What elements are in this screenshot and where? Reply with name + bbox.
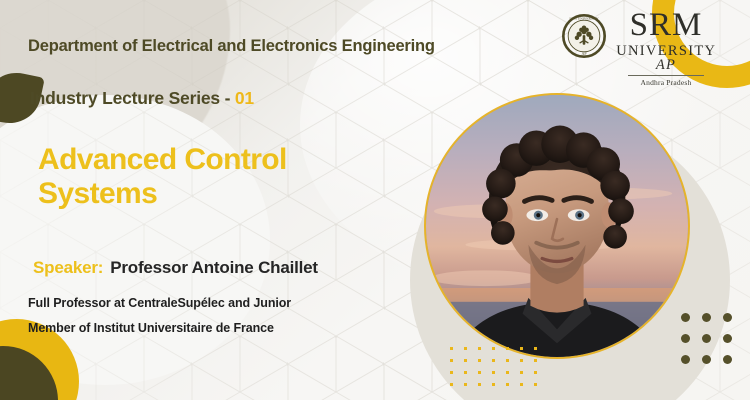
speaker-line: Speaker:Professor Antoine Chaillet (33, 258, 318, 278)
department-title: Department of Electrical and Electronics… (28, 37, 435, 56)
svg-text:SRM UNIVERSITY: SRM UNIVERSITY (569, 17, 599, 21)
logo-srm-text: SRM (610, 8, 722, 43)
affiliation-line-1: Full Professor at CentraleSupélec and Ju… (28, 291, 291, 316)
affiliation-line-2: Member of Institut Universitaire de Fran… (28, 316, 291, 341)
logo-university-text: UNIVERSITY AP (610, 44, 722, 73)
speaker-name: Professor Antoine Chaillet (110, 258, 318, 277)
speaker-photo (424, 93, 690, 359)
title-line-2: Systems (38, 177, 287, 211)
page-title: Advanced Control Systems (38, 143, 287, 211)
gold-dot-grid (450, 347, 537, 386)
logo-state-text: Andhra Pradesh (610, 78, 722, 87)
series-number: 01 (235, 88, 254, 108)
srm-tree-emblem-icon: SRM UNIVERSITY AP (562, 14, 606, 58)
portrait-illustration (426, 95, 688, 357)
speaker-photo-image (426, 95, 688, 357)
svg-text:AP: AP (581, 51, 587, 56)
title-line-1: Advanced Control (38, 143, 287, 177)
lecture-poster: SRM UNIVERSITY AP SRM UNIVERSITY AP Andh… (0, 0, 750, 400)
speaker-label: Speaker: (33, 258, 103, 277)
logo-ap-text: AP (656, 57, 676, 73)
olive-dot-grid (681, 313, 732, 364)
srm-university-logo: SRM UNIVERSITY AP SRM UNIVERSITY AP Andh… (562, 8, 722, 70)
speaker-affiliation: Full Professor at CentraleSupélec and Ju… (28, 291, 291, 341)
series-title: Industry Lecture Series - 01 (30, 88, 254, 109)
series-prefix: Industry Lecture Series - (30, 88, 235, 108)
